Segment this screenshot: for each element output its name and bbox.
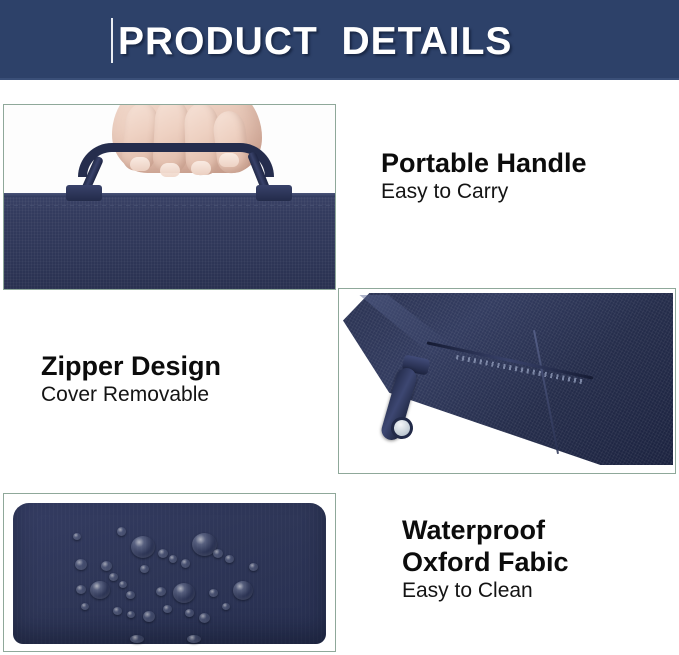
- handle-strap-arch: [78, 143, 274, 177]
- water-droplet: [131, 536, 155, 558]
- feature-image-portable-handle: [3, 104, 336, 290]
- feature-subline: Cover Removable: [41, 382, 331, 408]
- header-banner: PRODUCT DETAILS: [0, 0, 679, 80]
- zipper-photo-canvas: [339, 289, 675, 473]
- waterproof-photo-canvas: [4, 494, 335, 651]
- water-droplet: [109, 573, 118, 581]
- water-droplet: [156, 587, 166, 596]
- feature-text-waterproof-oxford-fabric: Waterproof Oxford Fabic Easy to Clean: [402, 514, 674, 604]
- water-droplet: [225, 555, 234, 563]
- water-droplet: [81, 603, 89, 610]
- handle-anchor-left: [66, 185, 102, 201]
- feature-subline: Easy to Clean: [402, 578, 674, 604]
- feature-subline: Easy to Carry: [381, 179, 671, 205]
- water-droplet: [75, 559, 87, 570]
- water-droplet: [233, 581, 253, 600]
- header-accent-rule: [111, 18, 113, 63]
- waterproof-fabric-surface: [13, 503, 326, 644]
- water-droplet: [130, 635, 144, 643]
- water-droplet: [199, 613, 210, 623]
- water-droplet: [158, 549, 168, 558]
- water-droplet: [140, 565, 149, 573]
- feature-headline: Portable Handle: [381, 147, 671, 179]
- water-droplet: [113, 607, 122, 615]
- water-droplet: [249, 563, 258, 571]
- water-droplet: [143, 611, 155, 622]
- water-droplet: [126, 591, 135, 599]
- handle-anchor-right: [256, 185, 292, 201]
- water-droplet: [187, 635, 201, 643]
- water-droplet: [185, 609, 194, 617]
- feature-text-zipper-design: Zipper Design Cover Removable: [41, 350, 331, 408]
- water-droplet: [173, 583, 195, 603]
- handle-photo-canvas: [4, 105, 335, 289]
- water-droplet: [181, 559, 190, 568]
- water-droplet: [90, 581, 110, 599]
- bag-stitch-line: [4, 205, 335, 206]
- water-droplet: [222, 603, 230, 610]
- feature-image-zipper-design: [338, 288, 676, 474]
- feature-image-waterproof-oxford-fabric: [3, 493, 336, 652]
- water-droplet: [117, 527, 126, 536]
- water-droplet: [76, 585, 86, 594]
- water-droplet: [73, 533, 81, 540]
- water-droplet: [163, 605, 172, 613]
- page-title: PRODUCT DETAILS: [118, 18, 558, 66]
- feature-headline: Zipper Design: [41, 350, 331, 382]
- water-droplet: [169, 555, 177, 563]
- water-droplet: [101, 561, 112, 571]
- bag-fabric-weave: [4, 197, 335, 289]
- water-droplet: [213, 549, 223, 558]
- feature-headline: Waterproof Oxford Fabic: [402, 514, 674, 578]
- water-droplet: [119, 581, 127, 588]
- water-droplet: [127, 611, 135, 618]
- water-droplet: [209, 589, 218, 597]
- feature-text-portable-handle: Portable Handle Easy to Carry: [381, 147, 671, 205]
